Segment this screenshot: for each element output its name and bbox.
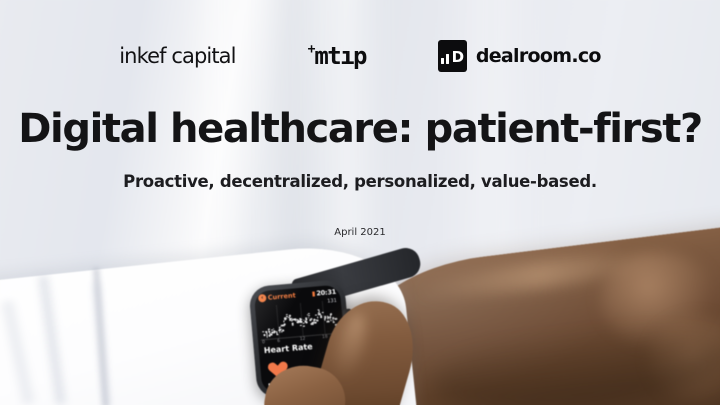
dealroom-monogram: D <box>452 51 464 64</box>
logo-mtip-text: mtıp <box>314 44 365 68</box>
presentation-title-slide: ‹ Current ▮ 20:31 131 0 6 12 <box>0 0 720 405</box>
bar-chart-icon <box>446 54 450 64</box>
logo-dealroom-text: dealroom.co <box>476 45 601 67</box>
page-subtitle: Proactive, decentralized, personalized, … <box>0 172 720 191</box>
logo-inkef-capital[interactable]: inkef capital <box>119 44 235 68</box>
partner-logo-row: inkef capital + mtıp D dealroom.co <box>0 40 720 72</box>
dealroom-mark-icon: D <box>438 40 467 72</box>
page-title: Digital healthcare: patient-first? <box>0 108 720 150</box>
slide-date: April 2021 <box>0 227 720 238</box>
logo-mtip[interactable]: + mtıp <box>308 44 366 68</box>
bar-chart-icon <box>441 58 445 64</box>
logo-dealroom[interactable]: D dealroom.co <box>438 40 601 72</box>
slide-content: inkef capital + mtıp D dealroom.co Digit… <box>0 0 720 405</box>
